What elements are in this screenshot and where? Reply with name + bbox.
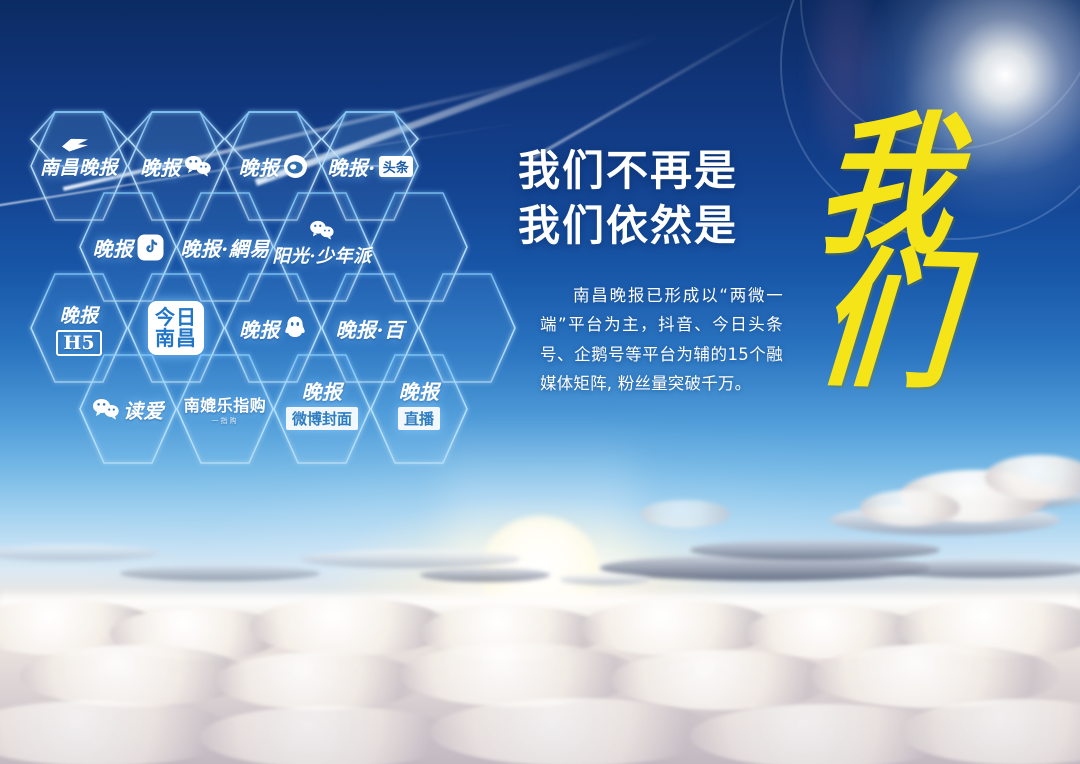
hex-label-text: 晚报 [399,376,440,405]
wechat-icon [308,220,336,240]
hex-evening-news-h5[interactable]: 晚报 H5 [31,293,127,363]
body-paragraph: 南昌晚报已形成以“两微一端”平台为主，抖音、今日头条号、企鹅号等平台为辅的15个… [540,281,783,398]
hex-evening-news-douyin[interactable]: 晚报 [80,217,176,277]
media-matrix-honeycomb: 南昌晚报 晚报 晚报 [0,0,560,470]
jinri-line1: 今日 [155,307,197,328]
hex-nanwan-shopping[interactable]: 南媲乐指购 一指购 [177,382,273,436]
hex-duai-wechat[interactable]: 读爱 [80,379,176,439]
douyin-icon [137,234,164,261]
hex-label-text: 晚报 [239,152,280,181]
hex-jinri-nanchang[interactable]: 今日 南昌 [128,295,224,361]
weibo-cover-badge-icon: 微博封面 [286,407,358,430]
hex-label-text: 南昌晚报 [40,153,118,180]
hex-sublabel-text: 一指购 [212,416,239,426]
headline-line-1: 我们不再是 [518,143,838,198]
hex-label-text: 晚报· [327,152,375,181]
headline-block: 我们不再是 我们依然是 [518,143,838,254]
app-tile-icon: 今日 南昌 [148,301,204,355]
hex-evening-news-toutiao[interactable]: 晚报· 头条 [322,136,418,196]
hex-label-text: 晚报 [93,233,134,262]
wechat-icon [92,398,120,420]
toutiao-badge-icon: 头条 [379,156,413,177]
hex-label-text: 读爱 [123,395,164,424]
hex-label-text: 阳光·少年派 [272,242,371,268]
weibo-icon [283,154,308,179]
jinri-line2: 南昌 [155,328,197,349]
swoosh-icon [62,139,88,152]
hex-label-text: 晚报 [140,152,181,181]
hex-label-text: 晚报·網易 [180,233,269,262]
headline-line-2: 我们依然是 [518,198,838,253]
hex-label-text: 晚报·百 [336,314,405,343]
hex-label-text: 晚报 [239,314,280,343]
hex-evening-news-weibo-cover[interactable]: 晚报 微博封面 [274,370,370,436]
hex-evening-news-baijiahao[interactable]: 晚报·百 [322,298,418,358]
qq-icon [283,315,307,342]
hex-label-text: 晚报 [302,376,343,405]
wechat-icon [184,155,212,177]
hex-nanchang-evening-news[interactable]: 南昌晚报 [31,136,127,196]
live-badge-icon: 直播 [398,407,440,430]
poster-canvas: 南昌晚报 晚报 晚报 [0,0,1080,764]
hex-evening-news-wechat[interactable]: 晚报 [128,136,224,196]
hex-sunshine-youth[interactable]: 阳光·少年派 [274,209,370,279]
hex-evening-news-live[interactable]: 晚报 直播 [371,370,467,436]
hex-label-text: 晚报 [59,301,98,328]
hex-evening-news-netease[interactable]: 晚报·網易 [177,217,273,277]
hex-label-text: 南媲乐指购 [184,392,267,416]
h5-badge-icon: H5 [56,330,101,356]
hex-evening-news-weibo[interactable]: 晚报 [225,136,321,196]
brush-char-men: 们 [813,249,960,395]
brush-calligraphy-women: 我 们 [806,122,966,412]
hex-evening-news-qq[interactable]: 晚报 [225,298,321,358]
